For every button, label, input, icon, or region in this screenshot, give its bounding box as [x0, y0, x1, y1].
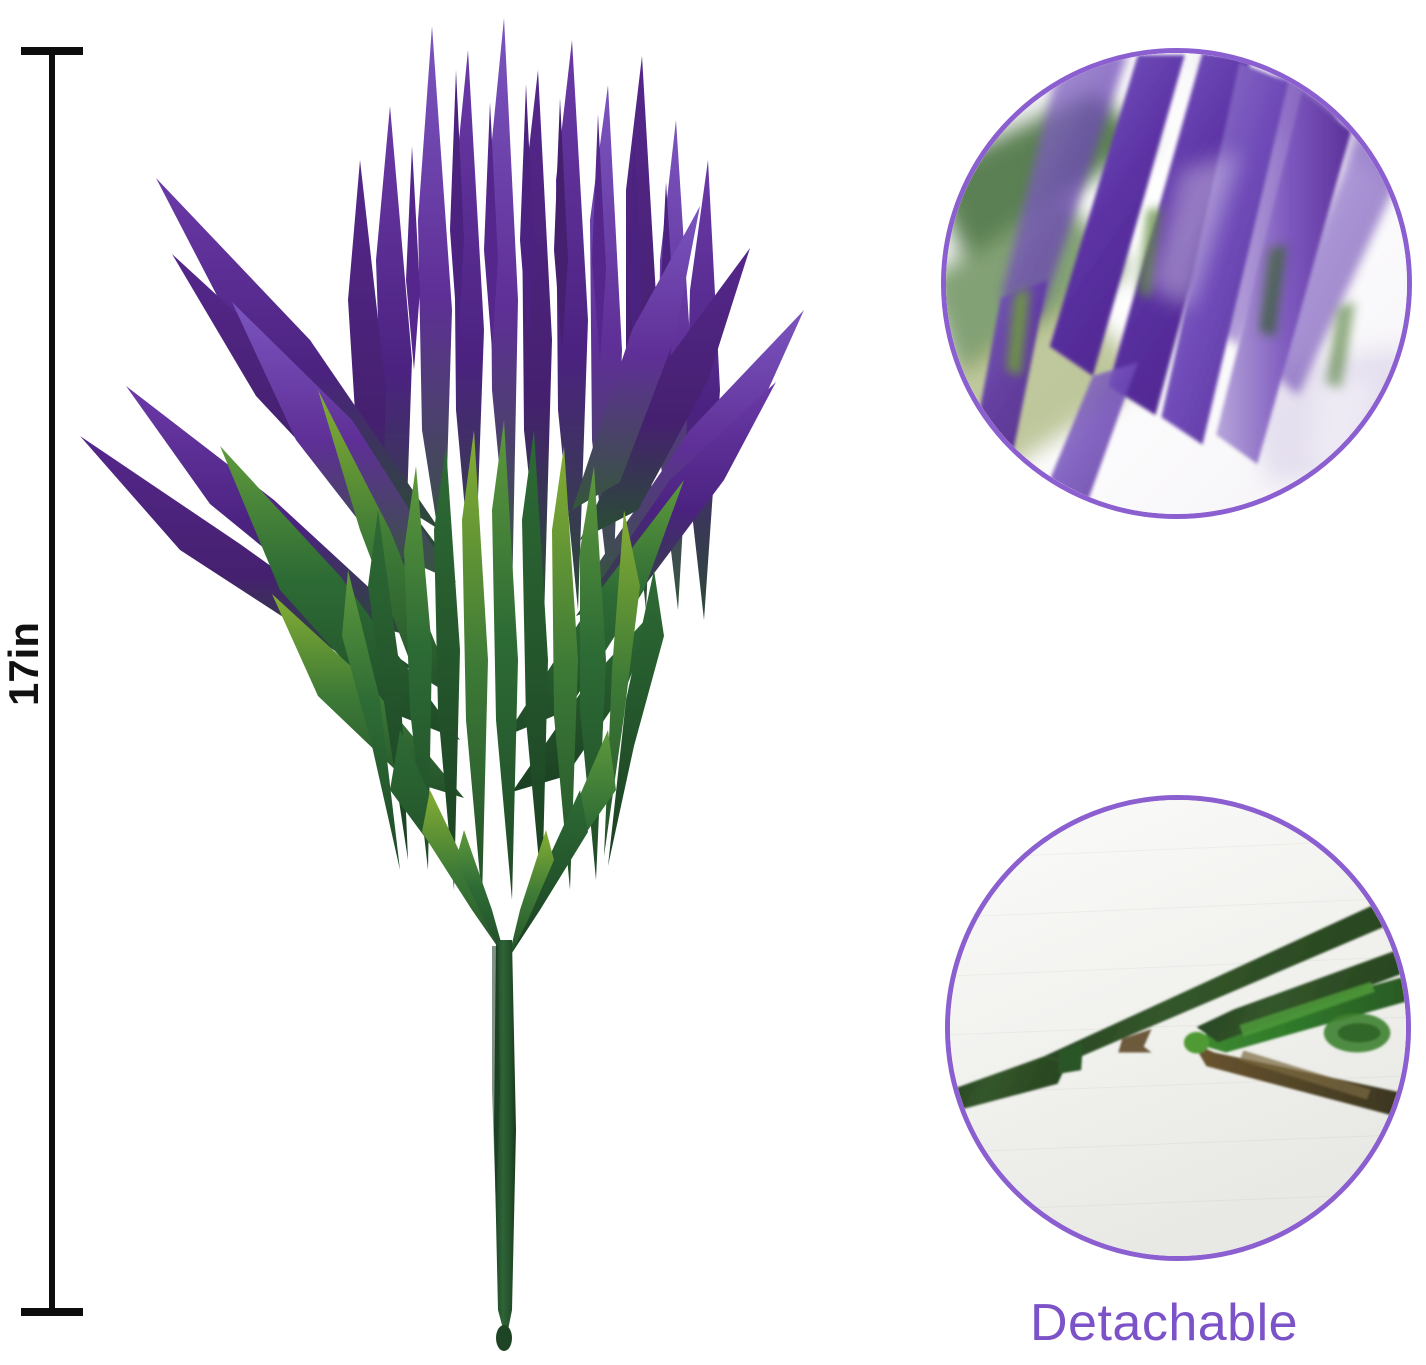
- detachable-caption: Detachable: [1030, 1293, 1360, 1353]
- leaf-closeup-image: [946, 53, 1407, 514]
- plant-illustration: [60, 10, 860, 1360]
- callout-detachable-closeup: [945, 795, 1411, 1261]
- plant-photo: [60, 10, 860, 1360]
- plant-stem: [492, 940, 516, 1351]
- detachable-closeup-image: [950, 800, 1406, 1256]
- product-image-canvas: 17in: [0, 0, 1426, 1365]
- callout-leaf-closeup: [941, 48, 1412, 519]
- dimension-label: 17in: [0, 604, 48, 724]
- dimension-line: [49, 52, 55, 1314]
